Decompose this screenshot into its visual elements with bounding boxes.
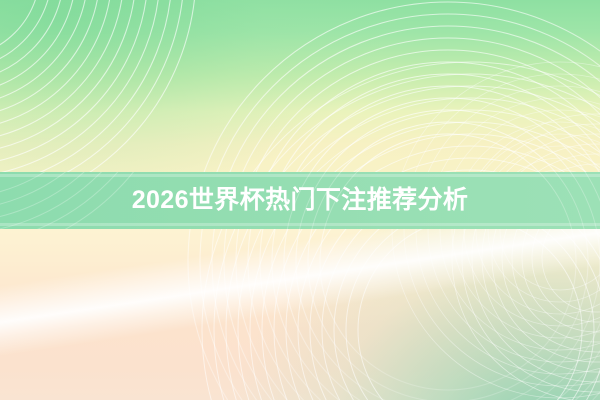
headline-band: 2026世界杯热门下注推荐分析 <box>0 172 600 229</box>
page-title: 2026世界杯热门下注推荐分析 <box>132 188 469 213</box>
background-green-glow-top-left <box>0 0 380 200</box>
promo-banner: 2026世界杯热门下注推荐分析 <box>0 0 600 400</box>
